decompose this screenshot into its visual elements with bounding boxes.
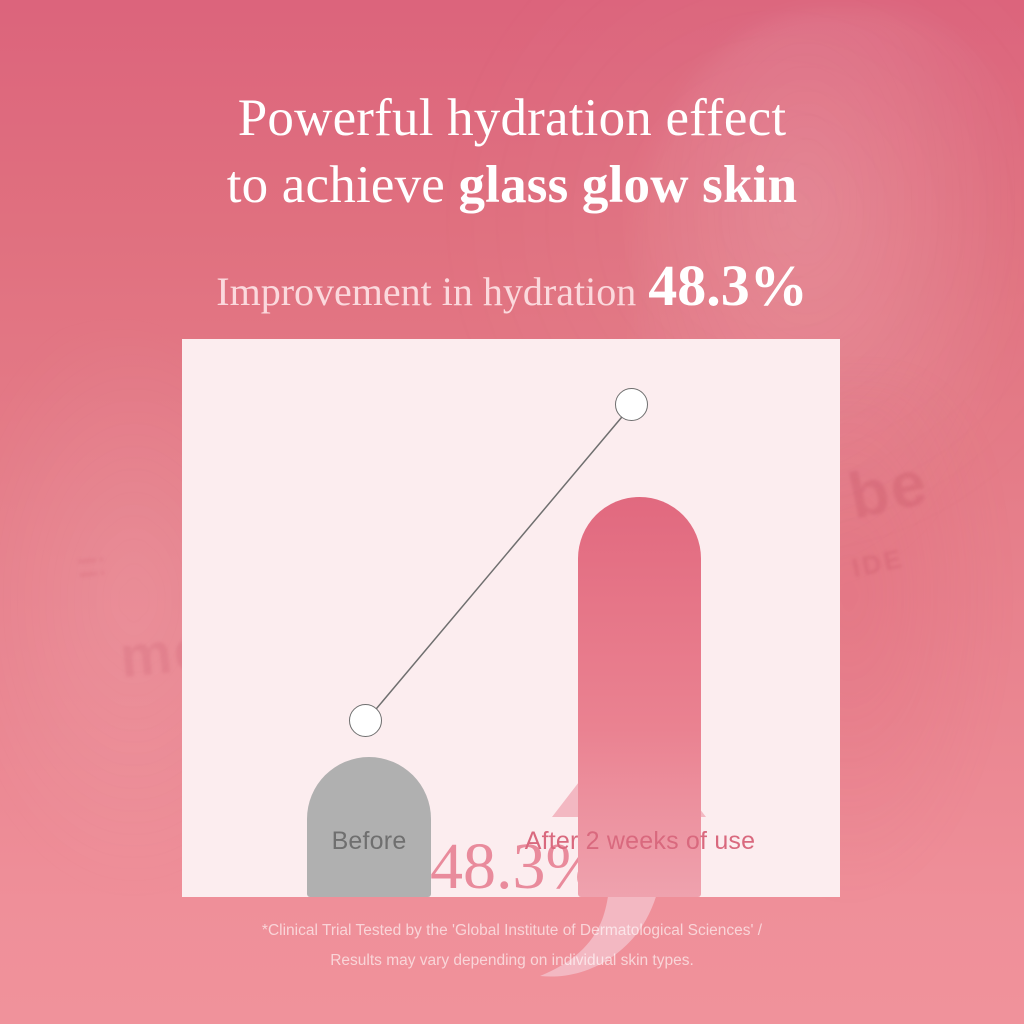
axis-label-after: After 2 weeks of use — [472, 827, 808, 856]
background-brand-watermark: be — [842, 445, 934, 534]
footnote-line-1: *Clinical Trial Tested by the 'Global In… — [0, 916, 1024, 946]
hydration-chart-panel: 48.3% Before After 2 weeks of use — [182, 339, 840, 897]
trend-connector-line — [182, 339, 840, 897]
background-left-small-watermark: ii — [69, 554, 111, 585]
background-ingredient-watermark: IDE — [849, 543, 907, 584]
footnote-block: *Clinical Trial Tested by the 'Global In… — [0, 916, 1024, 976]
data-point-marker-after — [615, 388, 648, 421]
headline-block: Powerful hydration effect to achieve gla… — [0, 92, 1024, 212]
footnote-line-2: Results may vary depending on individual… — [0, 946, 1024, 976]
headline-line-2: to achieve glass glow skin — [0, 159, 1024, 212]
subheadline-value: 48.3% — [648, 253, 808, 318]
subheadline-label: Improvement in hydration — [216, 269, 636, 314]
headline-line-2-plain: to achieve — [227, 156, 459, 214]
headline-line-2-bold: glass glow skin — [458, 156, 797, 214]
poster-canvas: be IDE me ii Powerful hydration effect t… — [0, 0, 1024, 1024]
data-point-marker-before — [349, 704, 382, 737]
axis-label-before: Before — [254, 827, 484, 856]
headline-line-1: Powerful hydration effect — [0, 92, 1024, 145]
subheadline-block: Improvement in hydration48.3% — [0, 252, 1024, 319]
